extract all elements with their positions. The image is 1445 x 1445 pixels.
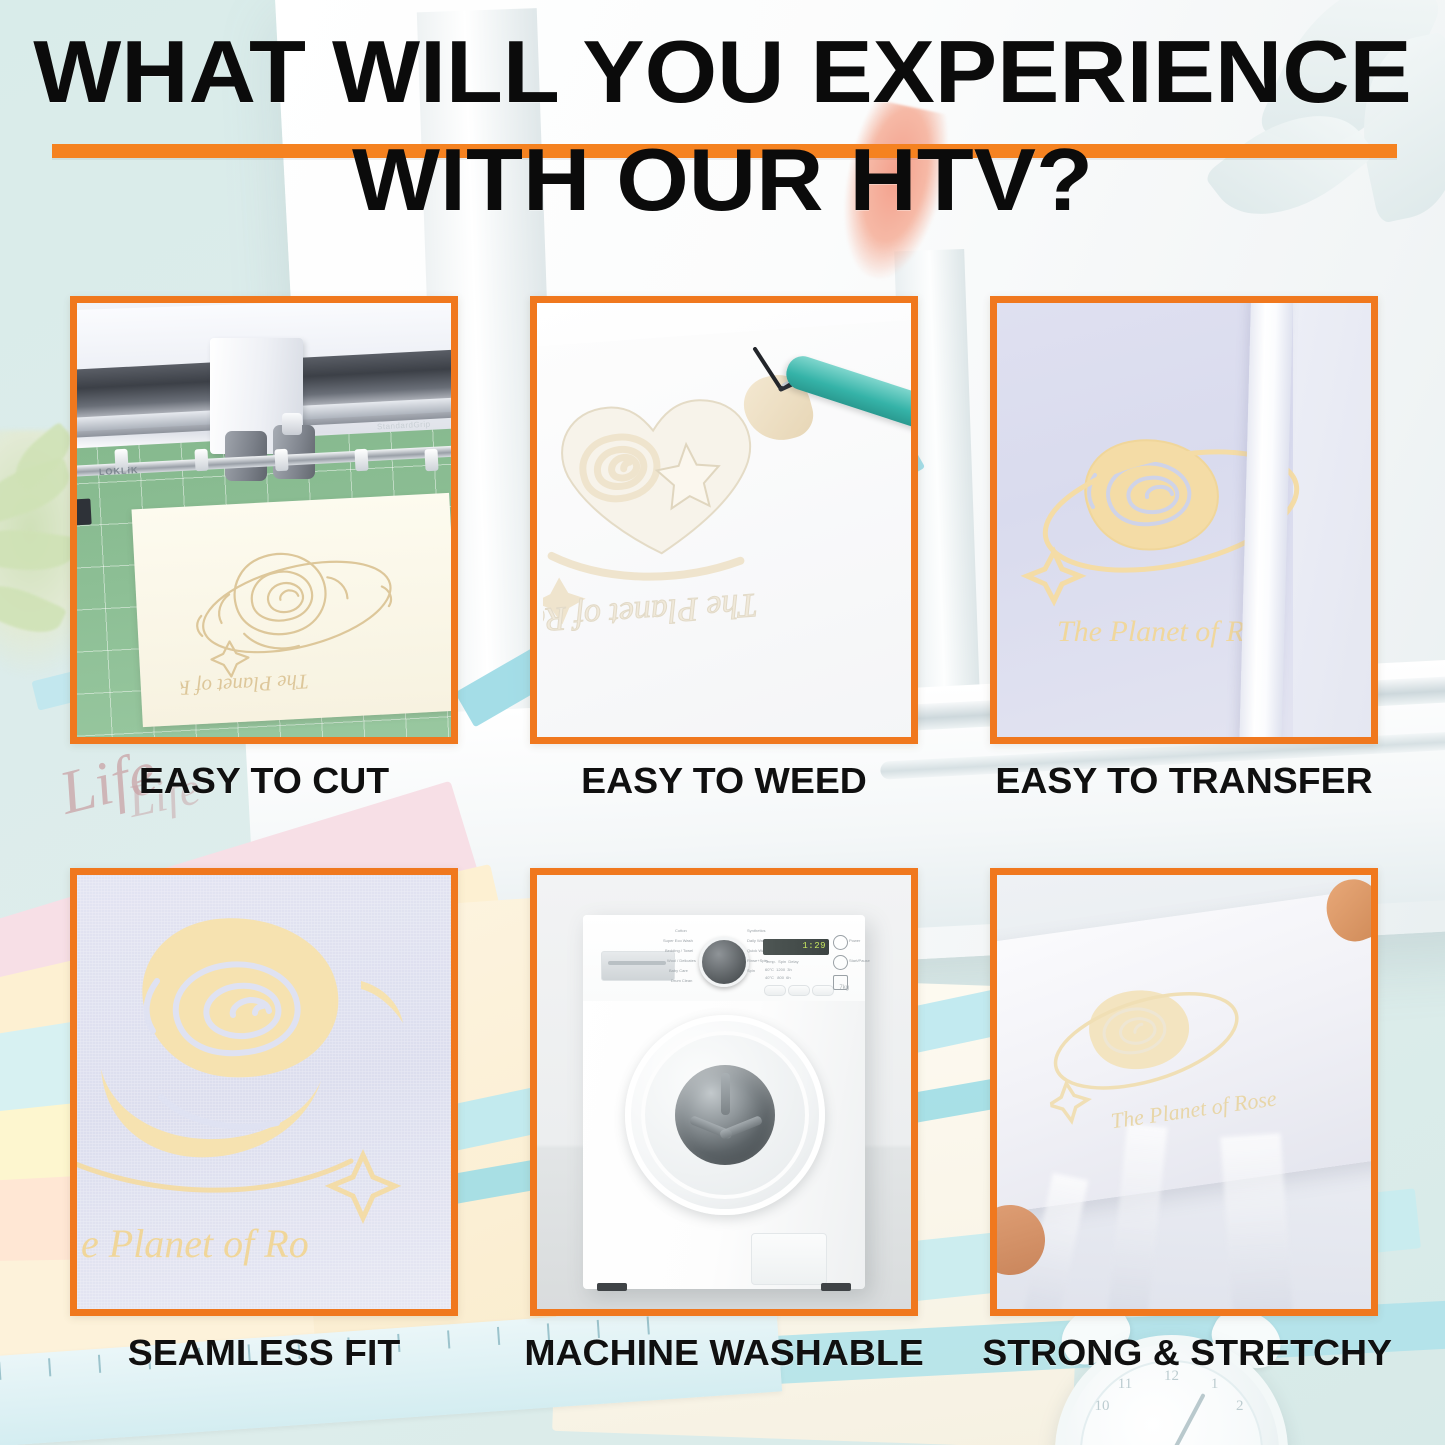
drum-paddle (721, 1073, 730, 1115)
washer-foot (597, 1283, 627, 1291)
artwork-script-text: The Planet of Rose (1109, 1085, 1278, 1133)
feature-caption-strong-and-stretchy: STRONG & STRETCHY (982, 1332, 1386, 1374)
washer-option-button[interactable] (788, 985, 810, 996)
feature-card-seamless-fit[interactable]: e Planet of Ro SEAMLESS FIT (70, 868, 458, 1374)
detergent-drawer (601, 951, 675, 981)
artwork-script-text: e Planet of Ro (81, 1221, 309, 1266)
feature-card-easy-to-cut[interactable]: StandardGrip LOKLiK (70, 296, 458, 802)
page-header: WHAT WILL YOU EXPERIENCE WITH OUR HTV? (0, 28, 1445, 224)
feature-image-easy-to-weed: The Planet of Rose (530, 296, 918, 744)
artwork-script-text: The Planet of Rose (172, 669, 309, 701)
rose-heart-weeded-artwork: The Planet of Rose (543, 347, 873, 737)
feature-caption-seamless-fit: SEAMLESS FIT (62, 1332, 466, 1374)
pinch-roller (424, 449, 438, 472)
washer-foot (821, 1283, 851, 1291)
washer-option-button[interactable] (764, 985, 786, 996)
feature-caption-easy-to-weed: EASY TO WEED (522, 760, 926, 802)
feature-row-bottom: e Planet of Ro SEAMLESS FIT Cotton Super… (0, 868, 1445, 1408)
drum-paddle (719, 1115, 763, 1140)
washer-door[interactable] (625, 1015, 825, 1215)
vinyl-sheet: The Planet of Rose (132, 493, 458, 727)
feature-image-strong-and-stretchy: The Planet of Rose (990, 868, 1378, 1316)
blade-holder-icon (282, 413, 302, 435)
feature-row-top: StandardGrip LOKLiK (0, 296, 1445, 836)
artwork-script-text: The Planet of Rose (543, 586, 759, 641)
filter-hatch[interactable] (751, 1233, 827, 1285)
start-pause-button-icon[interactable] (833, 955, 848, 970)
washing-machine: Cotton Super Eco Wash Bedding / Towel Wo… (583, 915, 865, 1289)
feature-caption-easy-to-transfer: EASY TO TRANSFER (982, 760, 1386, 802)
program-dial[interactable] (699, 937, 749, 987)
feature-caption-machine-washable: MACHINE WASHABLE (522, 1332, 926, 1374)
gold-rose-artwork-on-shirt: The Planet of Rose (1032, 942, 1317, 1176)
feature-card-machine-washable[interactable]: Cotton Super Eco Wash Bedding / Towel Wo… (530, 868, 918, 1374)
page-title-line-2: WITH OUR HTV? (0, 136, 1445, 224)
washer-drum-glass (675, 1065, 775, 1165)
feature-caption-easy-to-cut: EASY TO CUT (62, 760, 466, 802)
gold-rose-artwork-closeup: e Planet of Ro (70, 885, 458, 1305)
washer-display: 1:29 (763, 939, 829, 955)
feature-grid: StandardGrip LOKLiK (0, 296, 1445, 1408)
feature-card-easy-to-transfer[interactable]: The Planet of Rose EASY TO TRANSFER (990, 296, 1378, 802)
pinch-roller (194, 449, 208, 472)
rail-end-stop (70, 498, 91, 525)
washer-display-time: 1:29 (802, 941, 826, 951)
washer-option-button[interactable] (812, 985, 834, 996)
pinch-roller (354, 449, 368, 472)
machine-brand-label: LOKLiK (99, 465, 139, 477)
washer-capacity-label: 7kg (839, 985, 849, 991)
feature-image-easy-to-cut: StandardGrip LOKLiK (70, 296, 458, 744)
rose-outline-artwork: The Planet of Rose (172, 513, 421, 710)
pinch-roller (274, 449, 288, 472)
power-button-icon[interactable] (833, 935, 848, 950)
feature-card-easy-to-weed[interactable]: The Planet of Rose EASY TO WEED (530, 296, 918, 802)
feature-card-strong-and-stretchy[interactable]: The Planet of Rose STRONG & STRETCHY (990, 868, 1378, 1374)
washer-door-ring (641, 1031, 809, 1199)
feature-image-seamless-fit: e Planet of Ro (70, 868, 458, 1316)
feature-image-easy-to-transfer: The Planet of Rose (990, 296, 1378, 744)
feature-image-machine-washable: Cotton Super Eco Wash Bedding / Towel Wo… (530, 868, 918, 1316)
page-title-line-1: WHAT WILL YOU EXPERIENCE (0, 28, 1445, 116)
